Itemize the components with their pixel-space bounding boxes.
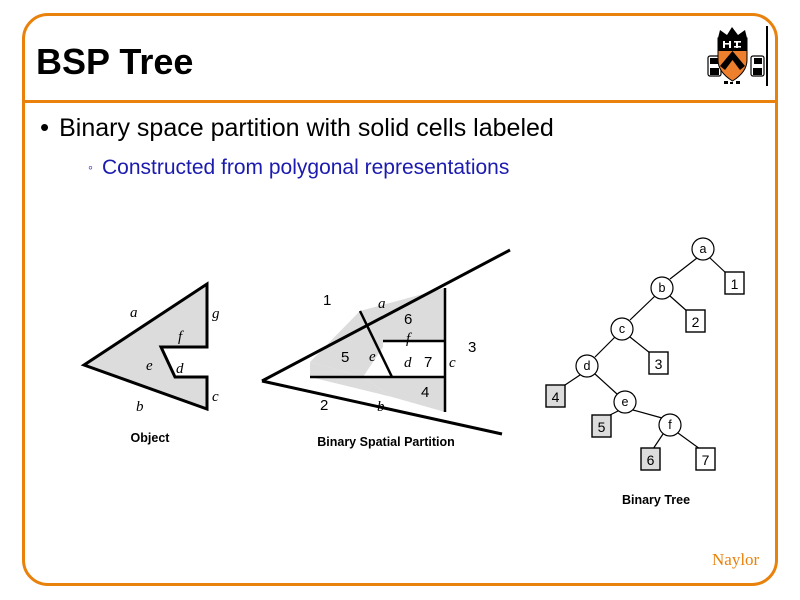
bullet-marker-circle: ◦ [88, 154, 93, 180]
title-bar: BSP Tree [36, 38, 436, 86]
bullet-text-1: Binary space partition with solid cells … [59, 112, 554, 144]
princeton-shield-logo [700, 24, 772, 88]
author-credit: Naylor [712, 550, 759, 570]
bullet-marker-disc: • [40, 112, 49, 142]
slide-border-frame [22, 13, 778, 586]
bullet-item-1: • Binary space partition with solid cell… [40, 112, 740, 144]
bullet-text-2: Constructed from polygonal representatio… [102, 154, 509, 181]
bullet-item-2: ◦ Constructed from polygonal representat… [88, 154, 748, 181]
slide-canvas: BSP Tree [0, 0, 800, 600]
title-divider-rule [25, 100, 775, 103]
page-title: BSP Tree [36, 42, 193, 82]
